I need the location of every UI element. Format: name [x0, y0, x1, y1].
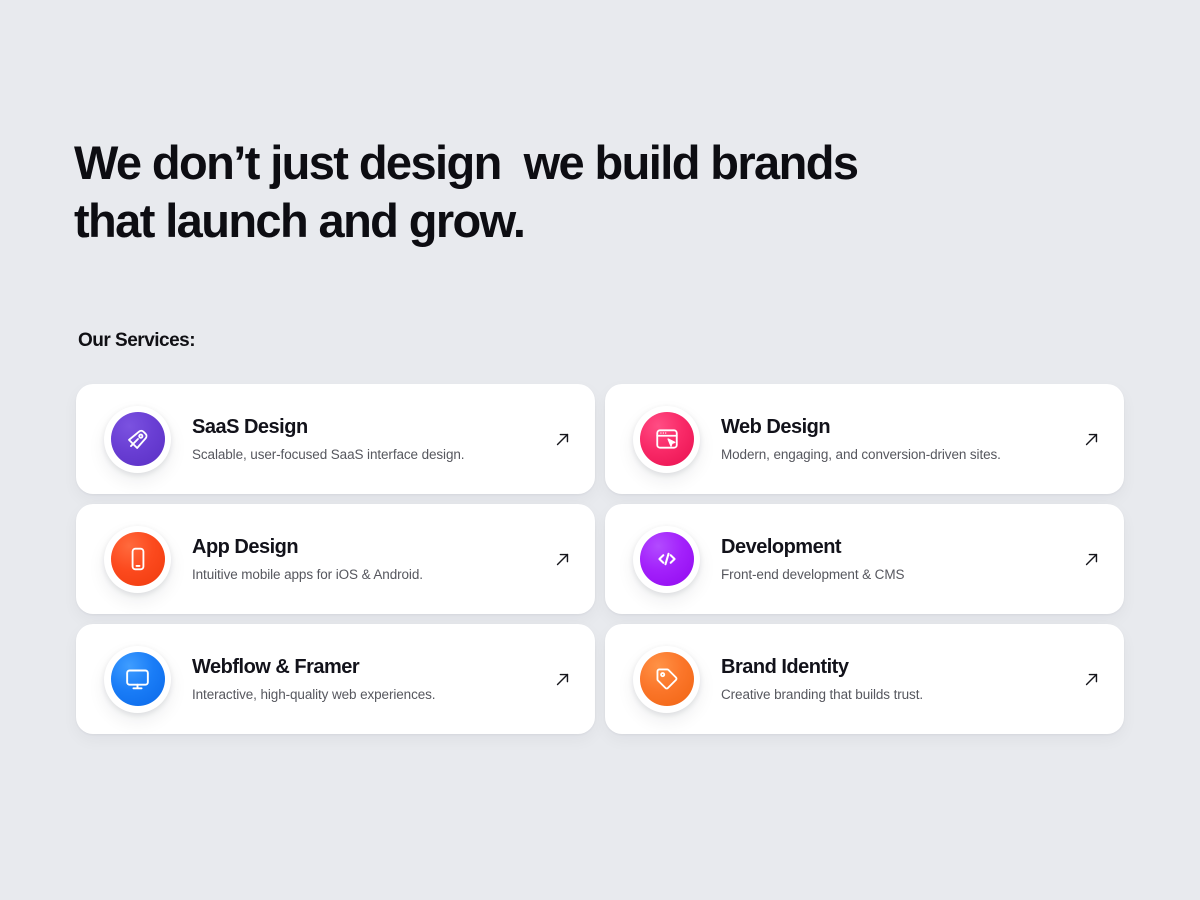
service-description: Intuitive mobile apps for iOS & Android. — [192, 565, 551, 584]
arrow-up-right-icon[interactable] — [1080, 428, 1102, 450]
service-title: Webflow & Framer — [192, 654, 551, 680]
arrow-up-right-icon[interactable] — [1080, 548, 1102, 570]
service-card-web-design[interactable]: Web Design Modern, engaging, and convers… — [605, 384, 1124, 494]
service-title: Development — [721, 534, 1080, 560]
headline-line-1: We don’t just design we build brands — [74, 134, 1074, 192]
browser-cursor-icon — [640, 412, 694, 466]
page-headline: We don’t just design we build brands tha… — [74, 134, 1074, 250]
price-tag-icon — [640, 652, 694, 706]
services-section-label: Our Services: — [78, 330, 195, 352]
card-text: Web Design Modern, engaging, and convers… — [721, 414, 1080, 464]
service-card-saas-design[interactable]: SaaS Design Scalable, user-focused SaaS … — [76, 384, 595, 494]
icon-ring — [633, 526, 700, 593]
arrow-up-right-icon[interactable] — [551, 668, 573, 690]
service-title: SaaS Design — [192, 414, 551, 440]
pen-nib-icon — [111, 412, 165, 466]
service-title: Web Design — [721, 414, 1080, 440]
icon-ring — [633, 406, 700, 473]
smartphone-icon — [111, 532, 165, 586]
service-description: Interactive, high-quality web experience… — [192, 685, 551, 704]
arrow-up-right-icon[interactable] — [551, 548, 573, 570]
card-text: Webflow & Framer Interactive, high-quali… — [192, 654, 551, 704]
arrow-up-right-icon[interactable] — [1080, 668, 1102, 690]
card-text: SaaS Design Scalable, user-focused SaaS … — [192, 414, 551, 464]
service-card-brand-identity[interactable]: Brand Identity Creative branding that bu… — [605, 624, 1124, 734]
service-title: App Design — [192, 534, 551, 560]
service-card-development[interactable]: Development Front-end development & CMS — [605, 504, 1124, 614]
icon-ring — [633, 646, 700, 713]
service-title: Brand Identity — [721, 654, 1080, 680]
icon-ring — [104, 646, 171, 713]
services-section-page: We don’t just design we build brands tha… — [0, 0, 1200, 900]
arrow-up-right-icon[interactable] — [551, 428, 573, 450]
card-text: App Design Intuitive mobile apps for iOS… — [192, 534, 551, 584]
icon-ring — [104, 406, 171, 473]
card-text: Brand Identity Creative branding that bu… — [721, 654, 1080, 704]
service-description: Creative branding that builds trust. — [721, 685, 1080, 704]
icon-ring — [104, 526, 171, 593]
code-brackets-icon — [640, 532, 694, 586]
service-description: Modern, engaging, and conversion-driven … — [721, 445, 1080, 464]
headline-line-2: that launch and grow. — [74, 192, 1074, 250]
service-description: Scalable, user-focused SaaS interface de… — [192, 445, 551, 464]
card-text: Development Front-end development & CMS — [721, 534, 1080, 584]
service-card-app-design[interactable]: App Design Intuitive mobile apps for iOS… — [76, 504, 595, 614]
services-grid: SaaS Design Scalable, user-focused SaaS … — [76, 384, 1124, 734]
service-card-webflow-framer[interactable]: Webflow & Framer Interactive, high-quali… — [76, 624, 595, 734]
service-description: Front-end development & CMS — [721, 565, 1080, 584]
desktop-monitor-icon — [111, 652, 165, 706]
